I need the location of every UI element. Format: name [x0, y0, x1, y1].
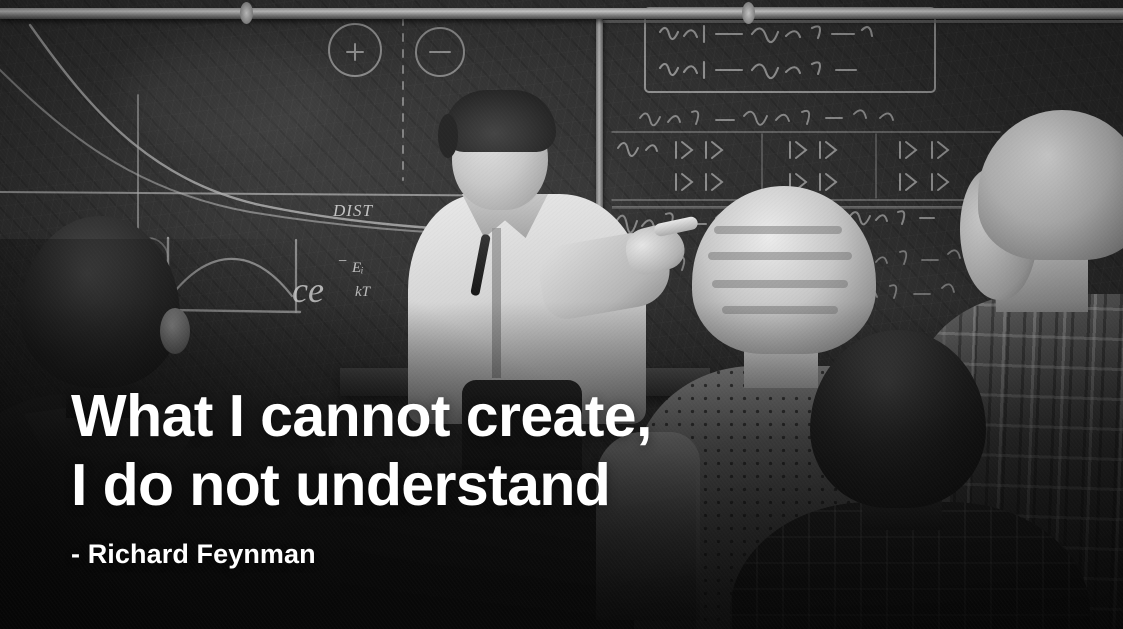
quote-line-2: I do not understand	[71, 451, 831, 520]
quote-attribution: - Richard Feynman	[71, 539, 831, 570]
quote-line-1: What I cannot create,	[71, 382, 831, 451]
quote-overlay: What I cannot create, I do not understan…	[71, 382, 831, 570]
quote-slide: DIST ce Eᵢ kT −	[0, 0, 1123, 629]
